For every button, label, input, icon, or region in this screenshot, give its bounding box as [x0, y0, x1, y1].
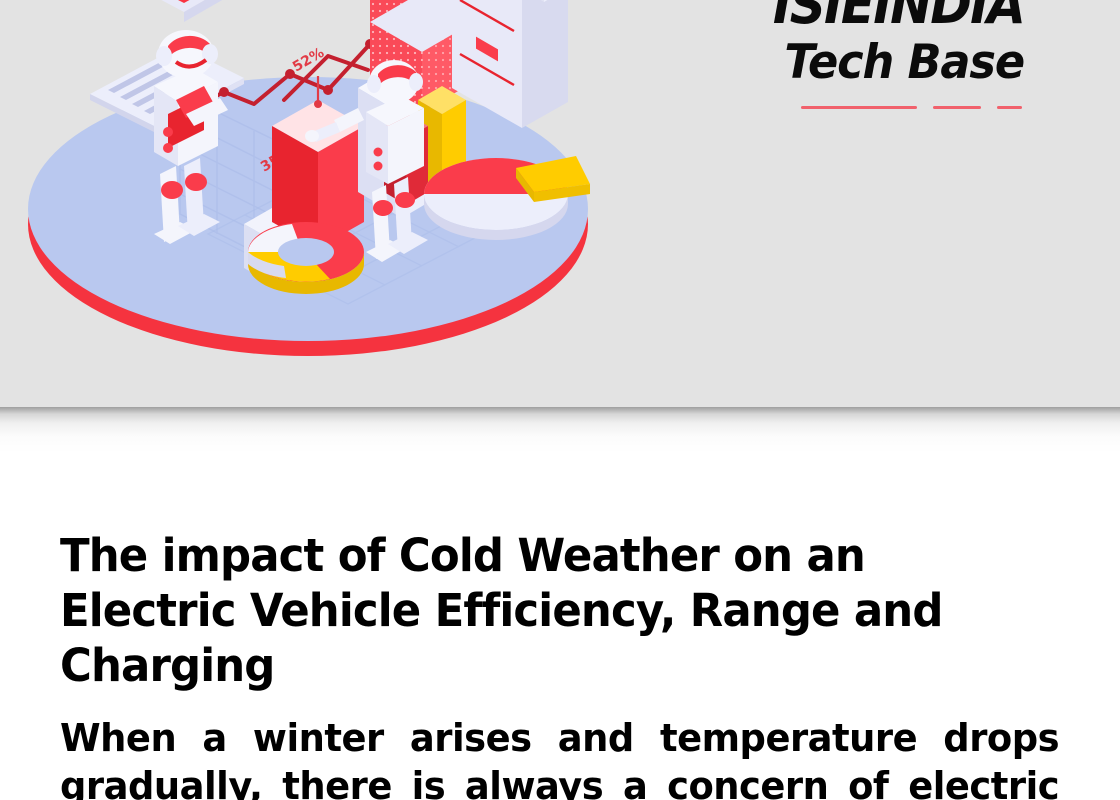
brand-name: ISIEINDIA	[773, 0, 1024, 32]
header-drop-shadow	[0, 407, 1120, 453]
accent-dash-medium	[933, 106, 981, 109]
donut-chart	[248, 222, 364, 294]
header-banner: 35% 52% 64%	[0, 0, 1120, 407]
svg-text:52%: 52%	[290, 45, 327, 76]
article-content: The impact of Cold Weather on an Electri…	[60, 453, 1062, 800]
article-body-paragraph: When a winter arises and temperature dro…	[60, 694, 1059, 800]
page-title: The impact of Cold Weather on an Electri…	[60, 453, 1027, 694]
article-section: The impact of Cold Weather on an Electri…	[0, 453, 1120, 800]
hero-illustration: 35% 52% 64%	[28, 0, 608, 404]
brand-lockup: ISIEINDIA Tech Base	[754, 0, 1024, 109]
brand-subtitle: Tech Base	[768, 38, 1024, 87]
accent-dash-long	[801, 106, 917, 109]
monitor-screen	[86, 0, 358, 22]
brand-accent-dashes	[754, 106, 1024, 109]
accent-dash-short	[997, 106, 1022, 109]
